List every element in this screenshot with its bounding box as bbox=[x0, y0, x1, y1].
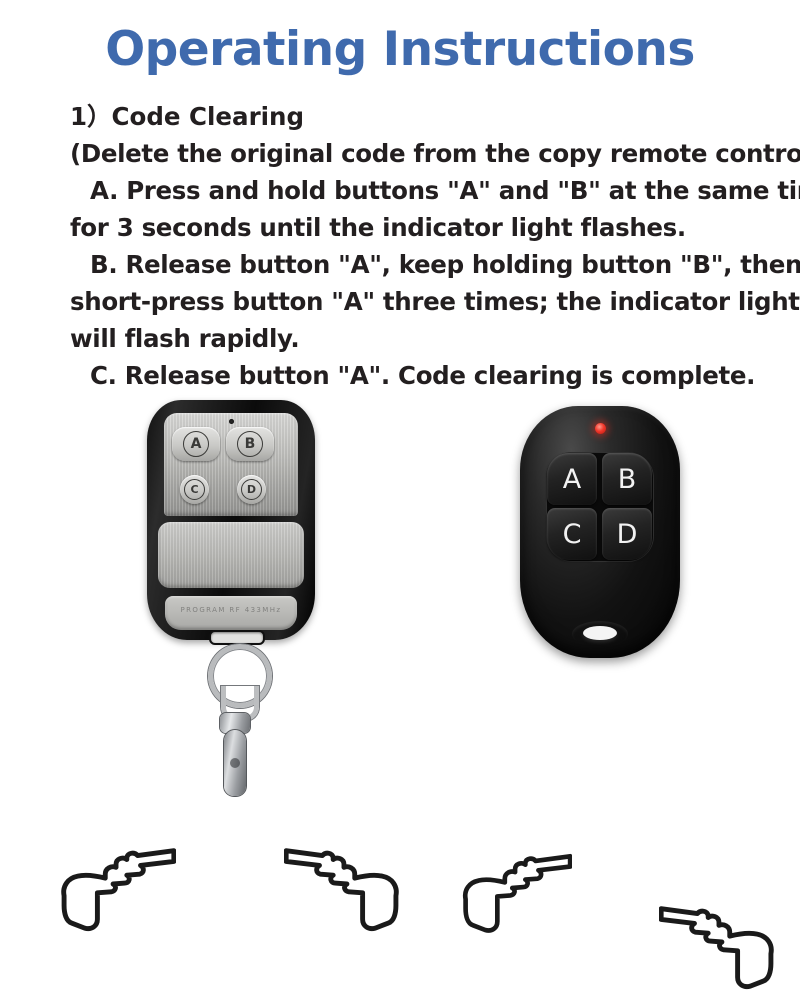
silver-remote: A B C D PROGRAM RF 433MHz bbox=[147, 400, 315, 640]
silver-button-a-label: A bbox=[183, 431, 209, 457]
black-remote: A B C D bbox=[520, 406, 680, 658]
instruction-line: C. Release button "A". Code clearing is … bbox=[70, 357, 760, 394]
page-title: Operating Instructions bbox=[0, 22, 800, 77]
silver-button-b[interactable]: B bbox=[226, 427, 274, 461]
indicator-light-icon bbox=[595, 423, 606, 434]
silver-remote-mid-panel bbox=[158, 522, 304, 588]
instruction-line: (Delete the original code from the copy … bbox=[70, 135, 760, 172]
silver-remote-lower-panel: PROGRAM RF 433MHz bbox=[165, 596, 297, 630]
keyring bbox=[190, 630, 280, 798]
pointing-hand-icon bbox=[58, 835, 176, 933]
instruction-line: for 3 seconds until the indicator light … bbox=[70, 209, 760, 246]
instructions-block: 1）Code Clearing (Delete the original cod… bbox=[70, 98, 760, 394]
silver-button-c[interactable]: C bbox=[180, 475, 209, 504]
instruction-line: 1）Code Clearing bbox=[70, 98, 760, 135]
keyring-slot bbox=[209, 630, 265, 645]
black-button-b[interactable]: B bbox=[602, 453, 652, 505]
remote-illustration: A B C D PROGRAM RF 433MHz A B bbox=[0, 398, 800, 800]
black-remote-keypad: A B C D bbox=[546, 452, 654, 562]
silver-button-c-label: C bbox=[184, 479, 205, 500]
pointing-hand-icon bbox=[659, 893, 777, 991]
silver-button-d[interactable]: D bbox=[237, 475, 266, 504]
indicator-light-icon bbox=[229, 419, 234, 424]
pointing-hand-icon bbox=[460, 841, 572, 935]
silver-button-b-label: B bbox=[237, 431, 263, 457]
black-remote-keyring-hole bbox=[583, 626, 617, 640]
silver-remote-keypad: A B C D bbox=[164, 413, 298, 516]
instruction-line: B. Release button "A", keep holding butt… bbox=[70, 246, 760, 283]
black-button-c[interactable]: C bbox=[547, 508, 597, 560]
keyring-clasp bbox=[224, 730, 246, 796]
black-button-d[interactable]: D bbox=[602, 508, 652, 560]
pointing-hand-icon bbox=[284, 835, 402, 933]
instruction-line: will flash rapidly. bbox=[70, 320, 760, 357]
silver-remote-imprint: PROGRAM RF 433MHz bbox=[165, 606, 297, 614]
silver-button-d-label: D bbox=[241, 479, 262, 500]
instruction-line: A. Press and hold buttons "A" and "B" at… bbox=[70, 172, 760, 209]
silver-button-a[interactable]: A bbox=[172, 427, 220, 461]
instruction-line: short-press button "A" three times; the … bbox=[70, 283, 760, 320]
black-button-a[interactable]: A bbox=[547, 453, 597, 505]
